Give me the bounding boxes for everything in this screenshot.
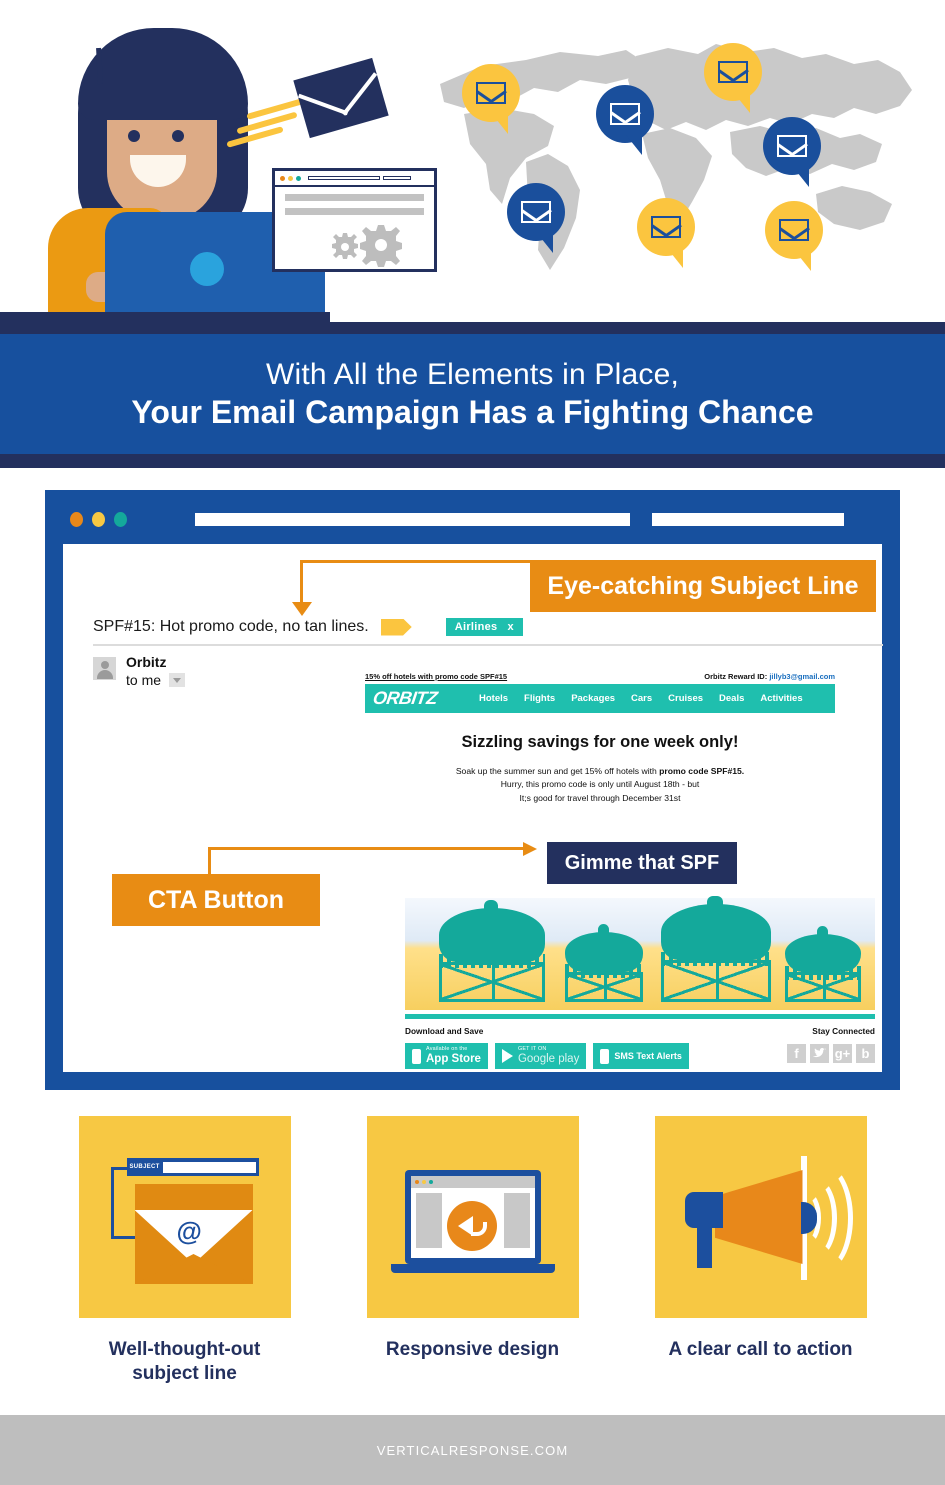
banner-top-rule	[0, 322, 945, 334]
map-bubble-4	[763, 117, 821, 175]
app-store-big: App Store	[426, 1053, 481, 1065]
email-body-promo-code: promo code SPF#15.	[659, 766, 744, 776]
woman-illustration	[30, 0, 330, 322]
cta-callout-arrow-head	[523, 842, 537, 856]
card-label-line1: A clear call to action	[655, 1338, 867, 1362]
label-tag-airlines[interactable]: Airlinesx	[446, 618, 523, 636]
callout-cta-button: CTA Button	[112, 874, 320, 926]
email-subject-row[interactable]: SPF#15: Hot promo code, no tan lines. Ai…	[93, 618, 883, 636]
envelope-icon	[521, 201, 551, 223]
at-symbol-icon: @	[177, 1216, 202, 1247]
map-bubble-7	[765, 201, 823, 259]
browser-mockup: Eye-catching Subject Line SPF#15: Hot pr…	[45, 490, 900, 1090]
reward-id-email[interactable]: jillyb3@gmail.com	[769, 672, 835, 681]
chevron-down-icon[interactable]	[169, 673, 185, 687]
email-sender-block: Orbitz to me	[93, 654, 185, 690]
nav-item-packages[interactable]: Packages	[571, 693, 615, 704]
subject-callout-arrow-head	[292, 602, 312, 616]
sms-label: SMS Text Alerts	[614, 1051, 682, 1061]
email-body-line3: It;s good for travel through December 31…	[365, 792, 835, 805]
nav-item-cars[interactable]: Cars	[631, 693, 652, 704]
nav-item-cruises[interactable]: Cruises	[668, 693, 703, 704]
nav-item-activities[interactable]: Activities	[760, 693, 802, 704]
email-cta-button[interactable]: Gimme that SPF	[547, 842, 737, 884]
tag-remove-icon[interactable]: x	[507, 621, 513, 633]
desk-bar	[0, 312, 330, 322]
laptop-reply-icon	[367, 1116, 579, 1318]
card-label-line1: Responsive design	[367, 1338, 579, 1362]
map-bubble-2	[596, 85, 654, 143]
email-body-line2: Hurry, this promo code is only until Aug…	[365, 778, 835, 791]
google-play-badge[interactable]: GET IT ON Google play	[495, 1043, 586, 1069]
mini-browser-window	[272, 168, 437, 272]
feature-cards: SUBJECT @ Well-thought-out subject line	[0, 1116, 945, 1386]
reward-id-label: Orbitz Reward ID:	[704, 672, 767, 681]
email-footer: Download and Save Stay Connected Availab…	[405, 1026, 875, 1069]
window-dot-minimize[interactable]	[92, 512, 105, 527]
subject-field-mock: SUBJECT	[127, 1158, 259, 1176]
envelope-icon	[476, 82, 506, 104]
card-label-line2: subject line	[79, 1362, 291, 1386]
card-responsive-design: Responsive design	[367, 1116, 579, 1386]
cta-callout-arrow-v	[208, 847, 211, 877]
orbitz-nav-bar: ORBITZ Hotels Flights Packages Cars Crui…	[365, 684, 835, 713]
envelope-icon	[651, 216, 681, 238]
subject-divider	[93, 644, 883, 646]
subject-field-label: SUBJECT	[130, 1164, 160, 1170]
card-label-line1: Well-thought-out	[79, 1338, 291, 1362]
headline-banner: With All the Elements in Place, Your Ema…	[0, 334, 945, 454]
address-bar[interactable]	[195, 513, 630, 526]
email-headline: Sizzling savings for one week only!	[365, 733, 835, 752]
subject-callout-arrow-h	[300, 560, 532, 563]
card-call-to-action: A clear call to action	[655, 1116, 867, 1386]
footer-site-url[interactable]: VERTICALRESPONSE.COM	[377, 1443, 569, 1458]
browser-chrome	[63, 508, 882, 530]
map-bubble-1	[462, 64, 520, 122]
secondary-bar[interactable]	[652, 513, 844, 526]
callout-eye-catching-subject-line: Eye-catching Subject Line	[530, 560, 876, 612]
sender-name: Orbitz	[126, 654, 185, 672]
cta-callout-arrow-h	[208, 847, 525, 850]
footer-download-label: Download and Save	[405, 1026, 483, 1036]
envelope-icon	[718, 61, 748, 83]
orbitz-logo: ORBITZ	[372, 688, 439, 709]
envelope-icon	[779, 219, 809, 241]
footer-connected-label: Stay Connected	[812, 1026, 875, 1036]
banner-line-2: Your Email Campaign Has a Fighting Chanc…	[131, 394, 813, 431]
window-dot-maximize[interactable]	[114, 512, 127, 527]
tag-label: Airlines	[455, 621, 498, 633]
bloglovin-icon[interactable]: b	[856, 1044, 875, 1063]
map-bubble-3	[704, 43, 762, 101]
subject-field-input[interactable]	[163, 1162, 256, 1173]
megaphone-icon	[655, 1116, 867, 1318]
flag-marker-icon	[381, 619, 412, 636]
banner-line-1: With All the Elements in Place,	[266, 358, 679, 392]
envelope-subject-icon: SUBJECT @	[79, 1116, 291, 1318]
nav-item-hotels[interactable]: Hotels	[479, 693, 508, 704]
hero-illustration	[0, 0, 945, 322]
app-store-badge[interactable]: Available on the App Store	[405, 1043, 488, 1069]
beach-huts-illustration	[405, 898, 875, 1010]
tiki-hut	[785, 934, 861, 1002]
phone-icon	[412, 1049, 421, 1064]
sms-alerts-badge[interactable]: SMS Text Alerts	[593, 1043, 689, 1069]
play-triangle-icon	[502, 1049, 513, 1063]
promo-banner-text: 15% off hotels with promo code SPF#15	[365, 672, 507, 681]
twitter-icon[interactable]	[810, 1044, 829, 1063]
tiki-hut	[565, 932, 643, 1002]
tiki-hut	[661, 904, 771, 1002]
email-subject-text: SPF#15: Hot promo code, no tan lines.	[93, 618, 369, 636]
subject-callout-arrow-v	[300, 560, 303, 606]
phone-icon	[600, 1049, 609, 1064]
envelope-icon	[610, 103, 640, 125]
avatar	[93, 657, 116, 680]
map-bubble-6	[637, 198, 695, 256]
email-client-pane: Eye-catching Subject Line SPF#15: Hot pr…	[63, 544, 882, 1072]
beach-divider	[405, 1014, 875, 1019]
nav-item-deals[interactable]: Deals	[719, 693, 744, 704]
page-footer: VERTICALRESPONSE.COM	[0, 1415, 945, 1485]
map-bubble-5	[507, 183, 565, 241]
window-dot-close[interactable]	[70, 512, 83, 527]
nav-item-flights[interactable]: Flights	[524, 693, 555, 704]
facebook-icon[interactable]: f	[787, 1044, 806, 1063]
google-plus-icon[interactable]: g+	[833, 1044, 852, 1063]
gear-icon	[319, 223, 409, 267]
orbitz-email-body: 15% off hotels with promo code SPF#15 Or…	[365, 672, 835, 805]
sender-recipient: to me	[126, 672, 161, 688]
google-play-big: Google play	[518, 1053, 579, 1065]
card-subject-line: SUBJECT @ Well-thought-out subject line	[79, 1116, 291, 1386]
email-body-line1a: Soak up the summer sun and get 15% off h…	[456, 766, 659, 776]
tiki-hut	[439, 908, 545, 1002]
banner-bottom-rule	[0, 454, 945, 468]
envelope-icon	[777, 135, 807, 157]
